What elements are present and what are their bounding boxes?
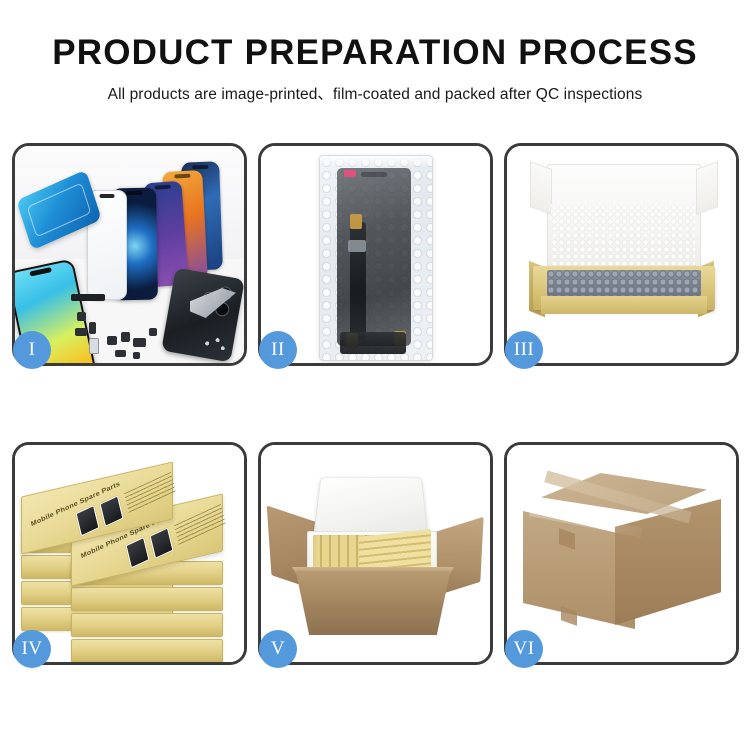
step-4-image: Mobile Phone Spare Parts Mobile Phone Sp… (15, 445, 244, 662)
page-subtitle: All products are image-printed、film-coat… (0, 82, 750, 104)
carton-right-face (615, 499, 721, 625)
stacked-box (71, 587, 223, 611)
step-badge-1: I (13, 331, 51, 369)
step-badge-2: II (259, 331, 297, 369)
step-1-image (15, 146, 244, 363)
small-part-icon (133, 352, 140, 359)
sealed-carton-icon (523, 473, 721, 635)
step-badge-6: VI (505, 630, 543, 668)
gold-contact-icon (350, 214, 362, 229)
foam-sheet-icon (551, 204, 695, 270)
small-part-icon (89, 338, 99, 354)
box-lid-spec-lines (124, 472, 176, 514)
step-badge-5: V (259, 630, 297, 668)
foam-lid-icon (313, 477, 429, 537)
box-lid-phone-graphic (99, 495, 123, 527)
step-2-image (261, 146, 490, 363)
bubble-wrapped-contents-icon (547, 270, 701, 296)
step-5-image (261, 445, 490, 662)
lcd-bottom-bracket-icon (340, 332, 406, 354)
box-lid-phone-graphic (149, 527, 173, 559)
step-badge-3: III (505, 331, 543, 369)
connector-icon (348, 240, 366, 252)
box-lid-phone-graphic (125, 537, 149, 569)
process-step-panel-1[interactable]: I (12, 143, 247, 366)
step-3-image (507, 146, 736, 363)
bag-seal-icon (320, 156, 432, 166)
box-lid-spec-lines (174, 504, 226, 546)
small-part-icon (121, 332, 130, 342)
process-step-panel-4[interactable]: Mobile Phone Spare Parts Mobile Phone Sp… (12, 442, 247, 665)
small-part-icon (115, 350, 126, 357)
box-lid-phone-graphic (75, 505, 99, 537)
qc-label-icon (344, 170, 356, 177)
lcd-screen-icon (337, 168, 411, 346)
small-part-icon (77, 312, 86, 321)
process-step-panel-3[interactable]: III (504, 143, 739, 366)
screws-icon (202, 337, 228, 353)
small-part-icon (89, 322, 96, 334)
process-step-panel-2[interactable]: II (258, 143, 493, 366)
stacked-box (71, 639, 223, 662)
small-part-icon (75, 328, 87, 336)
box-stack: Mobile Phone Spare Parts Mobile Phone Sp… (19, 463, 243, 653)
process-step-panel-6[interactable]: VI (504, 442, 739, 665)
process-step-panel-5[interactable]: V (258, 442, 493, 665)
step-6-image (507, 445, 736, 662)
carton-body-icon (289, 571, 457, 635)
step-badge-4: IV (13, 630, 51, 668)
page-title: PRODUCT PREPARATION PROCESS (0, 34, 750, 73)
small-part-icon (107, 336, 117, 345)
small-part-icon (149, 328, 157, 336)
small-part-icon (133, 338, 146, 347)
stacked-box (71, 613, 223, 637)
flex-ribbon-icon (71, 294, 105, 301)
page-header: PRODUCT PREPARATION PROCESS All products… (0, 0, 750, 104)
process-steps-grid: I II (12, 143, 739, 688)
bubble-wrap-bag-icon (319, 155, 433, 361)
kraft-box-front-icon (541, 296, 707, 314)
